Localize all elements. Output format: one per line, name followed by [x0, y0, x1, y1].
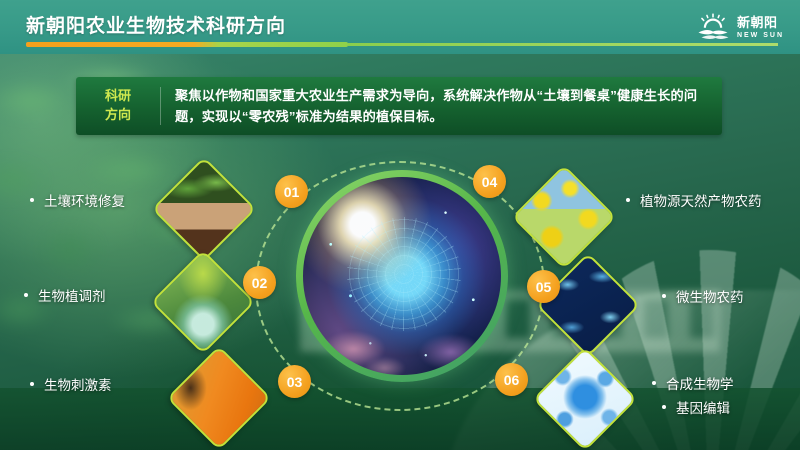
- node-label-text-06: 合成生物学: [666, 373, 734, 393]
- node-number-02[interactable]: 02: [243, 266, 276, 299]
- logo-name-en: NEW SUN: [737, 32, 784, 39]
- node-label-04: 植物源天然产物农药: [626, 190, 762, 210]
- node-label-text-02: 生物植调剂: [38, 285, 106, 305]
- title-underline-extension: [348, 43, 778, 46]
- globe-in-hands-image: [303, 177, 501, 375]
- node-number-06[interactable]: 06: [495, 363, 528, 396]
- center-globe-image: [296, 170, 508, 382]
- bullet-icon: [662, 405, 666, 409]
- bullet-icon: [662, 294, 666, 298]
- sunrise-icon: [696, 13, 730, 41]
- node-label-05: 微生物农药: [662, 286, 744, 306]
- node-label-06: 合成生物学: [652, 373, 734, 393]
- banner-tag-line1: 科研: [76, 87, 160, 106]
- node-label-03: 生物刺激素: [30, 374, 112, 394]
- research-direction-banner: 科研 方向 聚焦以作物和国家重大农业生产需求为导向，系统解决作物从“土壤到餐桌”…: [76, 77, 722, 135]
- banner-tag: 科研 方向: [76, 87, 160, 125]
- bullet-icon: [652, 381, 656, 385]
- hands-silhouette: [315, 300, 489, 375]
- title-underline: [26, 42, 348, 47]
- brand-logo: 新朝阳 NEW SUN: [696, 12, 784, 42]
- slide-header: 新朝阳农业生物技术科研方向: [0, 0, 800, 54]
- bullet-icon: [30, 382, 34, 386]
- node-label-02: 生物植调剂: [24, 285, 106, 305]
- bullet-icon: [626, 198, 630, 202]
- bullet-icon: [24, 293, 28, 297]
- node-label-01: 土壤环境修复: [30, 190, 125, 210]
- logo-name-cn: 新朝阳: [737, 16, 784, 29]
- node-number-05[interactable]: 05: [527, 270, 560, 303]
- node-label-text-01: 土壤环境修复: [44, 190, 125, 210]
- page-title: 新朝阳农业生物技术科研方向: [26, 11, 286, 38]
- node-label-06-secondary: 基因编辑: [662, 397, 730, 417]
- slide-root: 新朝阳农业生物技术科研方向: [0, 0, 800, 450]
- node-label-text-03: 生物刺激素: [44, 374, 112, 394]
- node-label-text-05: 微生物农药: [676, 286, 744, 306]
- bullet-icon: [30, 198, 34, 202]
- banner-tag-line2: 方向: [76, 106, 160, 125]
- node-label-text-gene-editing: 基因编辑: [676, 397, 730, 417]
- node-number-01[interactable]: 01: [275, 175, 308, 208]
- node-number-04[interactable]: 04: [473, 165, 506, 198]
- banner-text: 聚焦以作物和国家重大农业生产需求为导向，系统解决作物从“土壤到餐桌”健康生长的问…: [161, 85, 722, 128]
- node-label-text-04: 植物源天然产物农药: [640, 190, 762, 210]
- node-number-03[interactable]: 03: [278, 365, 311, 398]
- logo-text: 新朝阳 NEW SUN: [737, 16, 784, 39]
